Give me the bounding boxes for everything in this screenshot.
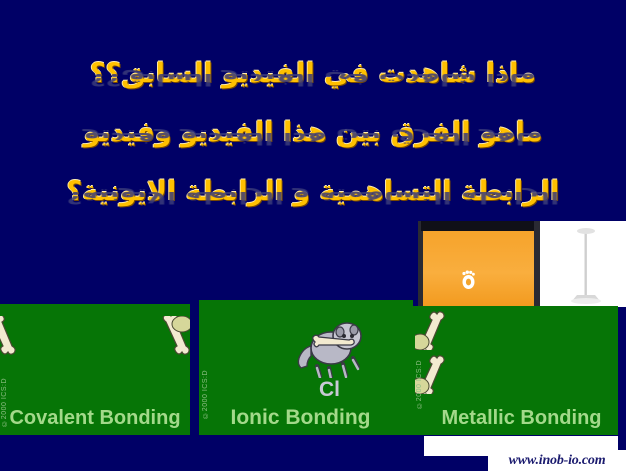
atom-label-cl: Cl (319, 378, 340, 402)
slide-canvas: ماذا شاهدت في الفيديو السابق؟؟ ماذا شاهد… (0, 0, 626, 471)
title-line-1: ماذا شاهدت في الفيديو السابق؟؟ ماذا شاهد… (0, 58, 626, 89)
panel-ionic-bonding[interactable]: Cl ©2000 ICS:D Ionic Bonding (199, 300, 402, 435)
bone-icon (415, 310, 445, 350)
panel-metallic-bonding[interactable]: ©2000 ICS:D Metallic Bonding (413, 306, 618, 435)
panel-edge-strip (402, 300, 413, 435)
title-line-3: الرابطة التساهمية و الرابطة الايونية؟ ال… (0, 176, 626, 207)
title-line-3-text: الرابطة التساهمية و الرابطة الايونية؟ (67, 176, 560, 207)
panel-label-metallic: Metallic Bonding (425, 407, 618, 430)
panel-label-covalent: Covalent Bonding (0, 407, 190, 430)
title-line-2-text: ماهو الفرق بين هذا الفيديو وفيديو (84, 117, 543, 148)
bulldog-icon (291, 316, 365, 378)
title-line-1-text: ماذا شاهدت في الفيديو السابق؟؟ (90, 58, 536, 89)
footer-url-text: www.inob-io.com (509, 453, 606, 469)
title-line-1-reflection: ماذا شاهدت في الفيديو السابق؟؟ (0, 70, 626, 89)
bone-icon (0, 316, 16, 356)
panel-watermark: ©2000 ICS:D (416, 360, 423, 409)
footprint-icon (460, 269, 477, 289)
photo-orange-field (423, 231, 534, 307)
lab-stand-icon (568, 227, 604, 305)
title-line-2: ماهو الفرق بين هذا الفيديو وفيديو ماهو ا… (0, 117, 626, 148)
orange-lab-photo (413, 221, 626, 307)
title-line-2-reflection: ماهو الفرق بين هذا الفيديو وفيديو (0, 129, 626, 148)
footer-url[interactable]: www.inob-io.com (488, 450, 626, 471)
bone-icon (160, 316, 190, 356)
panel-label-ionic: Ionic Bonding (199, 406, 402, 430)
slide-title: ماذا شاهدت في الفيديو السابق؟؟ ماذا شاهد… (0, 58, 626, 207)
title-line-3-reflection: الرابطة التساهمية و الرابطة الايونية؟ (0, 188, 626, 207)
photo-white-field (540, 221, 626, 307)
photo-dark-top-bar (421, 221, 539, 231)
panel-covalent-bonding[interactable]: ©2000 ICS:D Covalent Bonding (0, 304, 190, 435)
